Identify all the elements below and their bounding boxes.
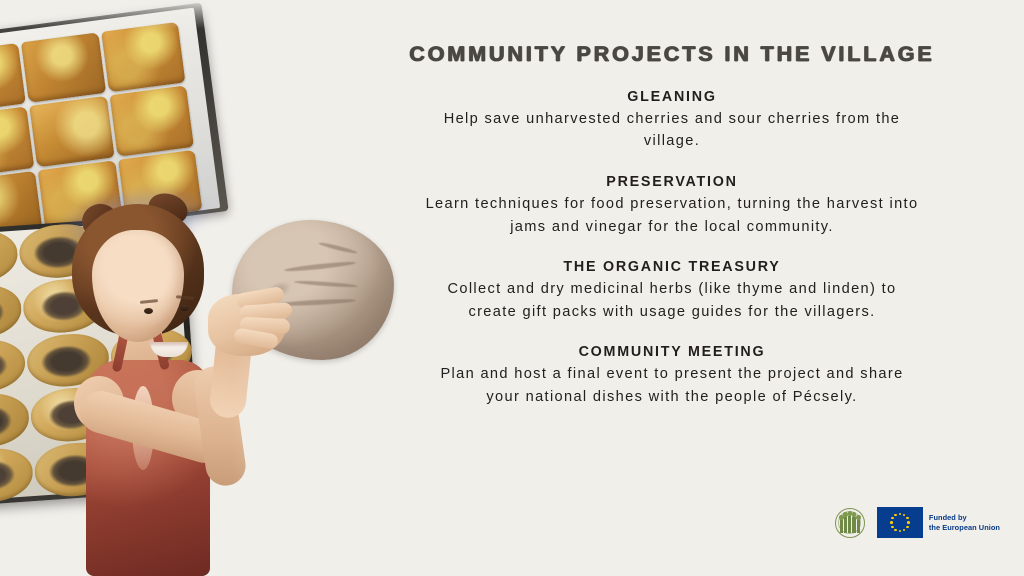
- eu-star-icon: [899, 513, 902, 516]
- pastry: [30, 96, 115, 167]
- poppyseed-roll: [0, 228, 20, 286]
- green-community-emblem-icon: [835, 508, 865, 538]
- slide-canvas: COMMUNITY PROJECTS IN THE VILLAGE GLEANI…: [0, 0, 1024, 576]
- poppyseed-roll: [0, 446, 35, 504]
- content-column: COMMUNITY PROJECTS IN THE VILLAGE GLEANI…: [392, 0, 952, 576]
- pastry: [109, 86, 194, 157]
- section-heading: THE ORGANIC TREASURY: [398, 259, 946, 275]
- section-heading: GLEANING: [398, 89, 946, 105]
- eye: [180, 305, 189, 311]
- eu-funding-text: Funded by the European Union: [929, 513, 1000, 533]
- section-preservation: PRESERVATION Learn techniques for food p…: [398, 174, 946, 238]
- pastry: [21, 32, 106, 103]
- section-body: Collect and dry medicinal herbs (like th…: [422, 278, 922, 323]
- eu-star-icon: [906, 526, 909, 529]
- eu-star-icon: [906, 517, 909, 520]
- section-body: Learn techniques for food preservation, …: [422, 193, 922, 238]
- poppyseed-roll: [0, 337, 27, 395]
- section-heading: PRESERVATION: [398, 174, 946, 190]
- section-body: Plan and host a final event to present t…: [422, 363, 922, 408]
- pastry: [0, 107, 35, 178]
- poppyseed-roll: [0, 282, 23, 340]
- section-body: Help save unharvested cherries and sour …: [422, 108, 922, 153]
- section-organic-treasury: THE ORGANIC TREASURY Collect and dry med…: [398, 259, 946, 323]
- section-heading: COMMUNITY MEETING: [398, 344, 946, 360]
- eu-star-icon: [899, 530, 902, 533]
- footer-logos: Funded by the European Union: [835, 507, 1000, 538]
- emblem-figures: [840, 515, 860, 533]
- eu-flag-icon: [877, 507, 923, 538]
- eu-star-icon: [890, 521, 893, 524]
- eu-funding-logo: Funded by the European Union: [877, 507, 1000, 538]
- dough-crease: [318, 241, 358, 255]
- photo-collage: [0, 0, 400, 576]
- section-gleaning: GLEANING Help save unharvested cherries …: [398, 89, 946, 153]
- emblem-figure: [857, 519, 860, 533]
- eu-star-icon: [891, 517, 894, 520]
- eu-star-icon: [894, 514, 897, 517]
- emblem-figure: [848, 515, 851, 533]
- eu-star-icon: [894, 529, 897, 532]
- poppyseed-roll: [0, 392, 31, 450]
- eu-star-icon: [903, 529, 906, 532]
- eu-star-icon: [891, 526, 894, 529]
- woman-holding-dough: [60, 190, 330, 576]
- dough-crease: [284, 260, 356, 272]
- page-title: COMMUNITY PROJECTS IN THE VILLAGE: [398, 42, 946, 68]
- emblem-figure: [844, 516, 847, 533]
- eu-star-icon: [903, 514, 906, 517]
- eyebrow: [140, 299, 158, 304]
- eye: [144, 308, 153, 314]
- eu-text-line2: the European Union: [929, 523, 1000, 533]
- pastry: [101, 22, 186, 93]
- eu-star-icon: [907, 521, 910, 524]
- section-community-meeting: COMMUNITY MEETING Plan and host a final …: [398, 344, 946, 408]
- dough-crease: [294, 280, 358, 288]
- emblem-figure: [840, 519, 843, 533]
- eu-text-line1: Funded by: [929, 513, 1000, 523]
